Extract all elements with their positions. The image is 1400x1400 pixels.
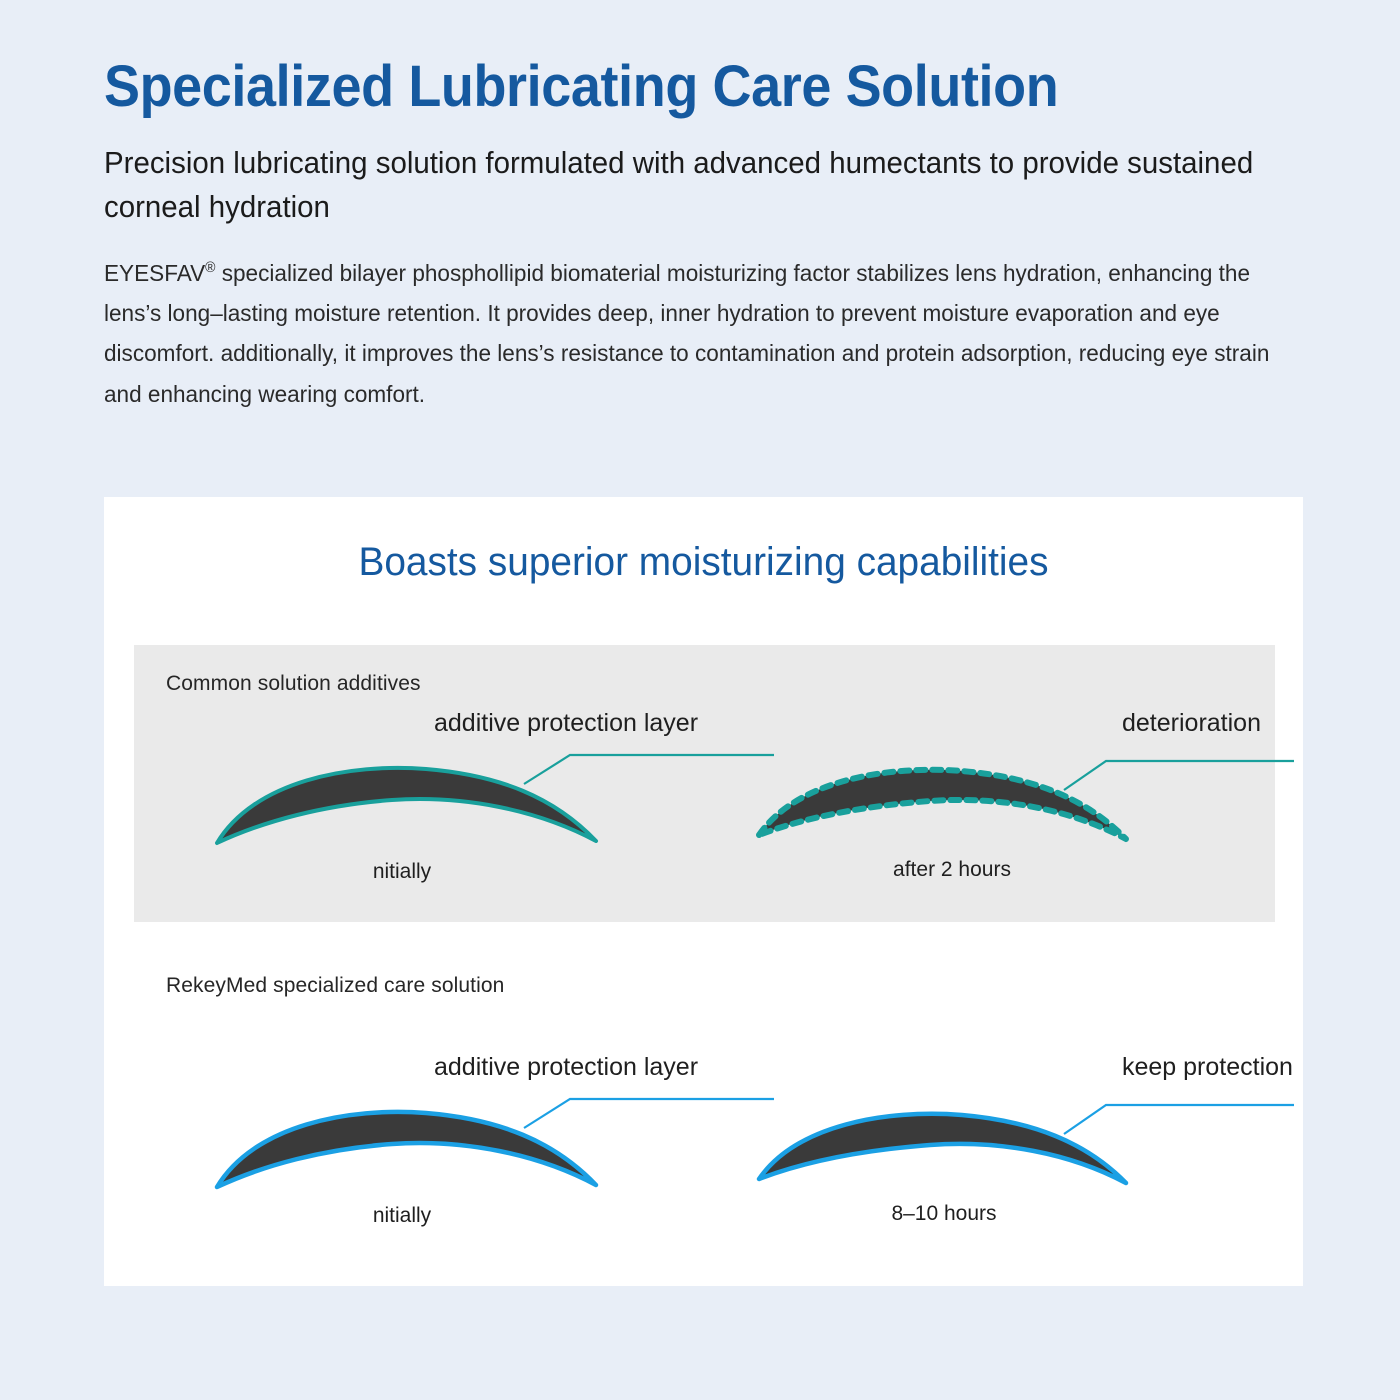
page-header: Specialized Lubricating Care Solution Pr… [104,56,1336,414]
brand-name: EYESFAV [104,260,205,286]
callout-additive-protection-layer: additive protection layer [434,709,698,738]
cell-common-after-2-hours: deterioration after 2 hours [734,645,1275,922]
lens-shape [217,1112,596,1187]
registered-trademark-icon: ® [205,260,215,276]
page-title: Specialized Lubricating Care Solution [104,56,1250,119]
cell-rekey-initial: additive protection layer nitially [134,947,734,1257]
caption-8-10-hours: 8–10 hours [844,1202,1044,1226]
lens-shape [759,1114,1126,1183]
caption-common-initial: nitially [302,860,502,884]
body-text: specialized bilayer phosphollipid biomat… [104,260,1269,407]
leader-line [1064,1105,1294,1134]
lens-shape [217,768,596,843]
card-title: Boasts superior moisturizing capabilitie… [122,540,1285,585]
leader-line [1064,761,1294,790]
panel-common-solution-additives: Common solution additives additive prote… [134,645,1275,922]
lens-shape-deteriorated [759,770,1126,839]
cell-common-initial: additive protection layer nitially [134,645,734,922]
page-body-paragraph: EYESFAV® specialized bilayer phosphollip… [104,253,1287,415]
caption-rekey-initial: nitially [302,1204,502,1228]
cell-rekey-8-10-hours: keep protection 8–10 hours [734,947,1275,1257]
callout-deterioration: deterioration [1122,709,1261,738]
panel-rekeymed-care-solution: RekeyMed specialized care solution addit… [134,947,1275,1257]
page-subtitle: Precision lubricating solution formulate… [104,141,1274,229]
caption-after-2-hours: after 2 hours [852,858,1052,882]
callout-keep-protection: keep protection [1122,1053,1293,1082]
comparison-card: Boasts superior moisturizing capabilitie… [104,497,1303,1286]
callout-additive-protection-layer: additive protection layer [434,1053,698,1082]
